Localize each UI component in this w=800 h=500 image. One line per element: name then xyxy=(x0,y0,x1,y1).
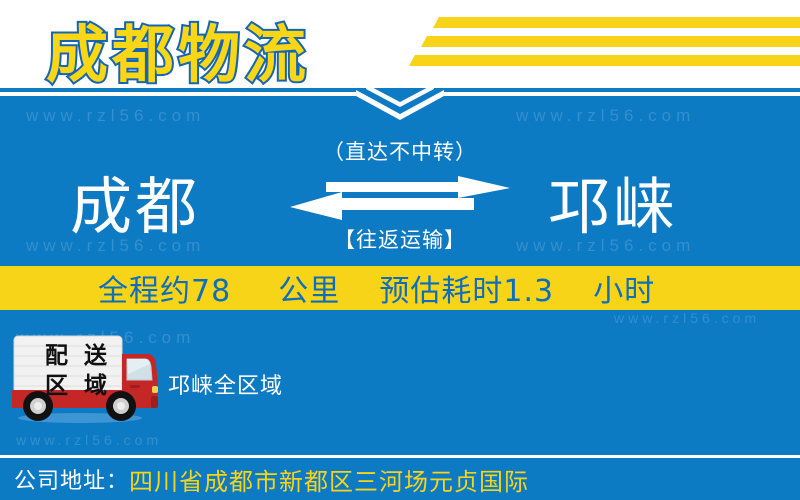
box-char-4: 域 xyxy=(76,371,115,401)
box-char-1: 配 xyxy=(37,341,76,371)
address-value: 四川省成都市新都区三河场元贞国际 xyxy=(129,462,529,497)
box-char-2: 送 xyxy=(76,341,115,371)
distance-value: 全程约78 xyxy=(98,274,231,309)
duration-unit: 小时 xyxy=(593,274,655,309)
watermark: www.rzl56.com xyxy=(614,310,760,326)
decorative-stripes xyxy=(400,12,800,74)
distance-unit: 公里 xyxy=(278,274,340,309)
stripe-2 xyxy=(421,36,800,47)
watermark: www.rzl56.com xyxy=(16,432,162,448)
footer-address: 公司地址： 四川省成都市新都区三河场元贞国际 xyxy=(0,458,800,500)
watermark: www.rzl56.com xyxy=(26,106,205,126)
distance-duration-text: 全程约78 公里 预估耗时1.3 小时 xyxy=(98,266,655,310)
chevron-down-icon xyxy=(356,88,444,122)
route-section: 成都 邛崃 （直达不中转） 【往返运输】 xyxy=(0,150,800,260)
destination-city: 邛崃 xyxy=(548,156,678,246)
logistics-poster: 成都物流 www.rzl56.com www.rzl56.com www.rzl… xyxy=(0,0,800,500)
page-title: 成都物流 xyxy=(46,4,310,88)
header-banner: 成都物流 xyxy=(0,0,800,88)
truck-box-label: 配 送 区 域 xyxy=(37,340,115,402)
watermark: www.rzl56.com xyxy=(516,106,695,126)
delivery-truck-icon: 配 送 区 域 xyxy=(8,330,158,426)
roundtrip-note: 【往返运输】 xyxy=(280,224,520,254)
coverage-area-text: 邛崃全区域 xyxy=(168,368,283,400)
duration-value: 预估耗时1.3 xyxy=(379,274,554,309)
origin-city: 成都 xyxy=(70,156,200,246)
direct-note: （直达不中转） xyxy=(280,136,520,166)
stripe-1 xyxy=(433,17,800,28)
distance-duration-bar: 全程约78 公里 预估耗时1.3 小时 xyxy=(0,266,800,310)
double-arrow-icon xyxy=(290,176,510,222)
stripe-3 xyxy=(409,55,800,66)
box-char-3: 区 xyxy=(37,371,76,401)
address-label: 公司地址： xyxy=(14,463,129,495)
route-middle: （直达不中转） 【往返运输】 xyxy=(280,136,520,266)
